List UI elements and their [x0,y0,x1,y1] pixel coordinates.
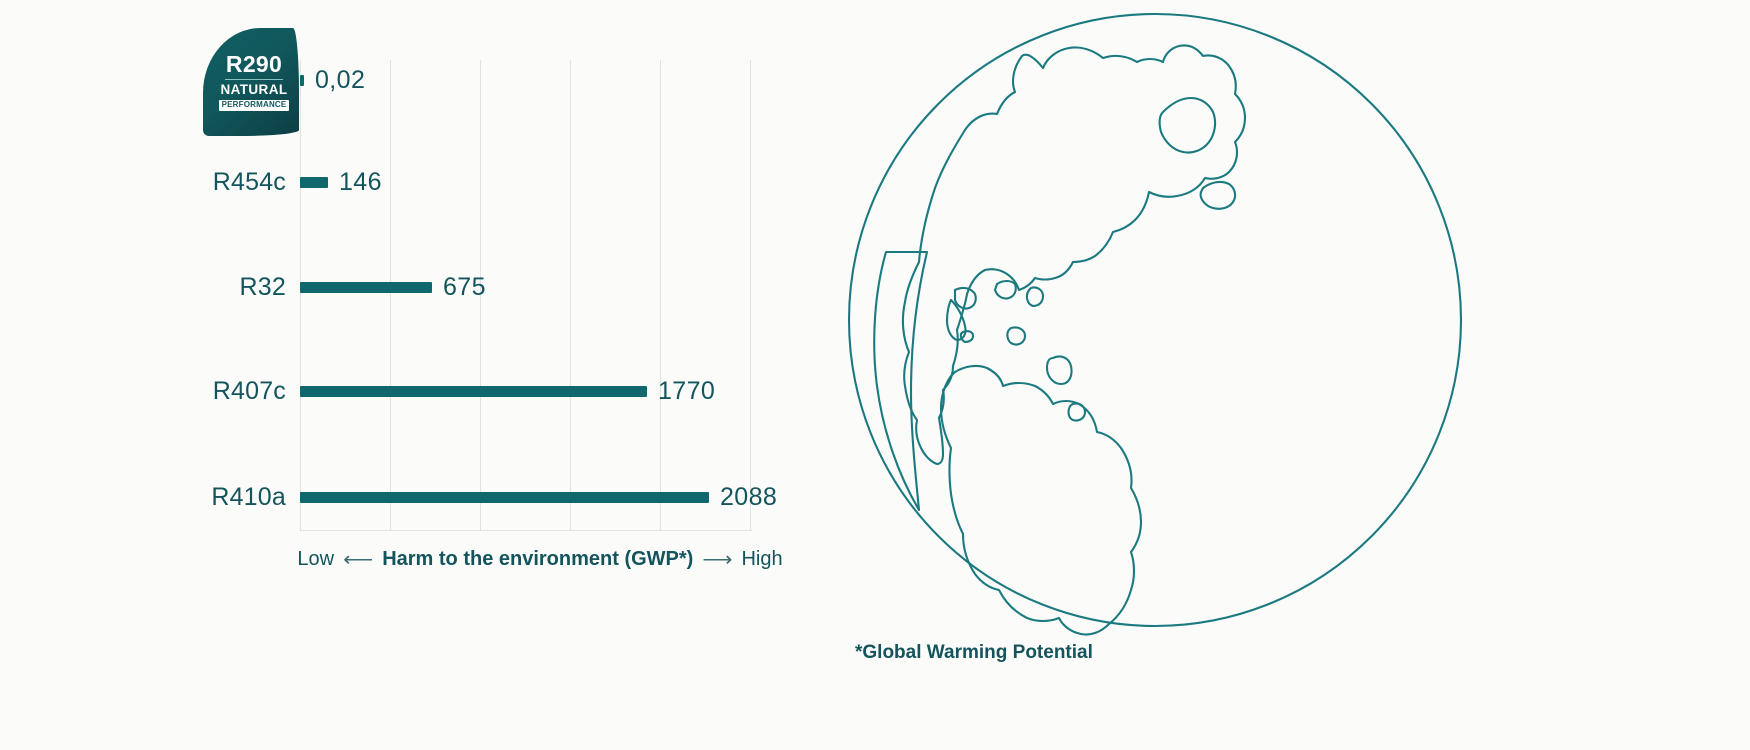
footnote-gwp: *Global Warming Potential [855,642,1093,664]
bar-r32 [300,282,432,293]
axis-line-bottom [300,530,752,531]
bar-row-r32: R32 675 [300,267,486,307]
infographic-root: R290 0,02 R454c 146 R32 675 R407c 1770 [0,0,1750,750]
bar-row-r407c: R407c 1770 [300,371,715,411]
r290-leaf-badge: R290 NATURAL PERFORMANCE [203,28,299,136]
badge-divider [225,79,283,80]
badge-title: R290 [226,53,282,76]
bar-value-r290: 0,02 [315,66,365,95]
bar-r407c [300,386,647,397]
badge-content: R290 NATURAL PERFORMANCE [203,28,299,136]
bar-label-r32: R32 [240,273,286,302]
axis-caption-low: Low [297,548,334,571]
gridline-3 [570,60,571,530]
bar-row-r410a: R410a 2088 [300,477,777,517]
chart-plot-area: R290 0,02 R454c 146 R32 675 R407c 1770 [300,60,750,530]
axis-caption-main: Harm to the environment (GWP*) [382,548,693,571]
arrow-right-icon: ⟶ [702,549,732,570]
gwp-bar-chart: R290 0,02 R454c 146 R32 675 R407c 1770 [0,0,880,750]
globe-outline-icon [845,0,1465,640]
x-axis-caption: Low ⟵ Harm to the environment (GWP*) ⟶ H… [280,548,800,571]
bar-label-r410a: R410a [211,483,286,512]
badge-subtitle-natural: NATURAL [220,83,287,97]
gridline-4 [660,60,661,530]
arrow-left-icon: ⟵ [343,549,373,570]
bar-r454c [300,177,328,188]
axis-caption-high: High [741,548,782,571]
bar-value-r454c: 146 [339,168,382,197]
bar-r410a [300,492,709,503]
bar-row-r290: R290 0,02 [300,60,365,100]
bar-r290 [300,75,304,86]
bar-row-r454c: R454c 146 [300,162,382,202]
bar-value-r32: 675 [443,273,486,302]
bar-value-r410a: 2088 [720,483,777,512]
bar-label-r454c: R454c [213,168,286,197]
bar-label-r407c: R407c [213,377,286,406]
bar-value-r407c: 1770 [658,377,715,406]
gridline-5 [750,60,751,530]
badge-subtitle-performance: PERFORMANCE [219,100,290,111]
